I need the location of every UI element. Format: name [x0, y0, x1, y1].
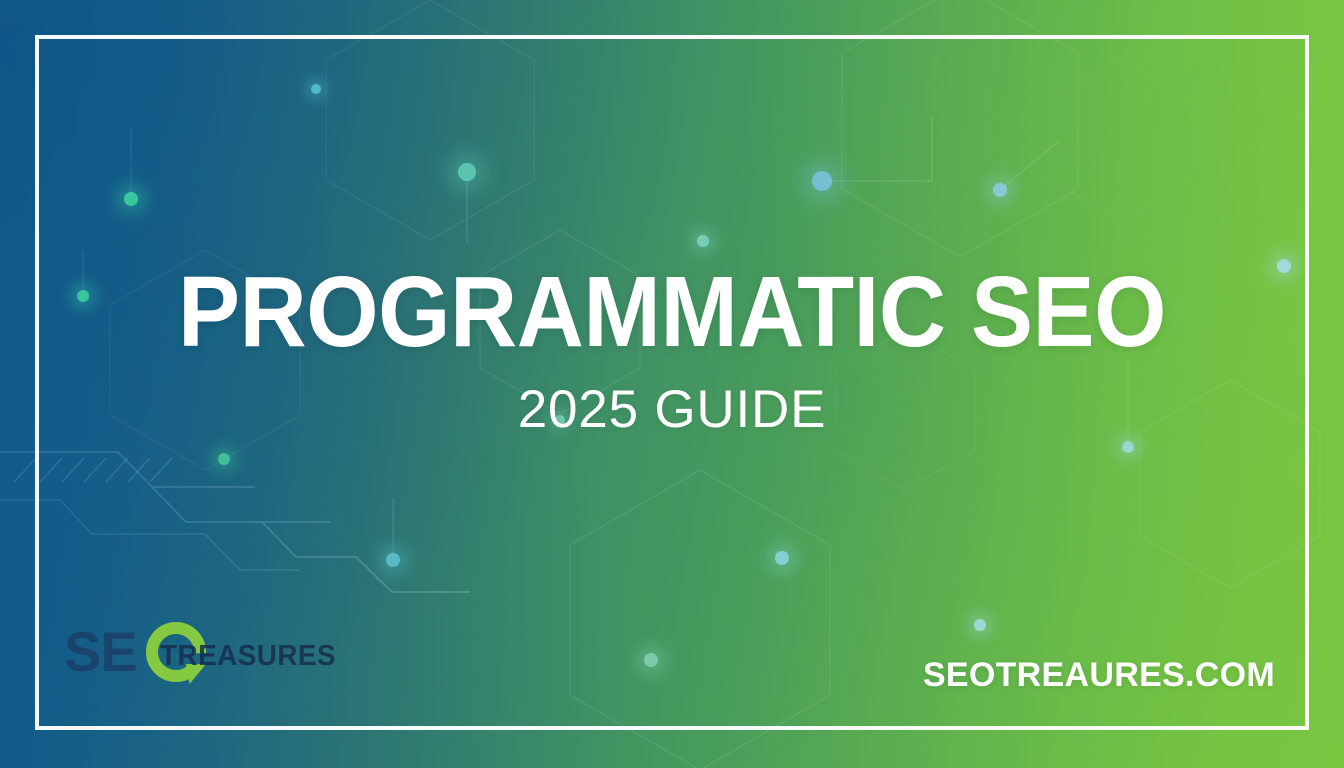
logo-mark-text: SE	[64, 624, 137, 680]
brand-logo: SE TREASURES	[64, 620, 294, 692]
site-url-text: SEOTREAURES.COM	[923, 658, 1275, 692]
page-title: PROGRAMMATIC SEO	[47, 262, 1297, 362]
page-subtitle: 2025 GUIDE	[0, 383, 1344, 436]
headline-block: PROGRAMMATIC SEO 2025 GUIDE	[0, 262, 1344, 436]
seo-guide-banner: PROGRAMMATIC SEO 2025 GUIDE SE TREASURES…	[0, 0, 1344, 768]
logo-wordmark-text: TREASURES	[160, 642, 336, 671]
